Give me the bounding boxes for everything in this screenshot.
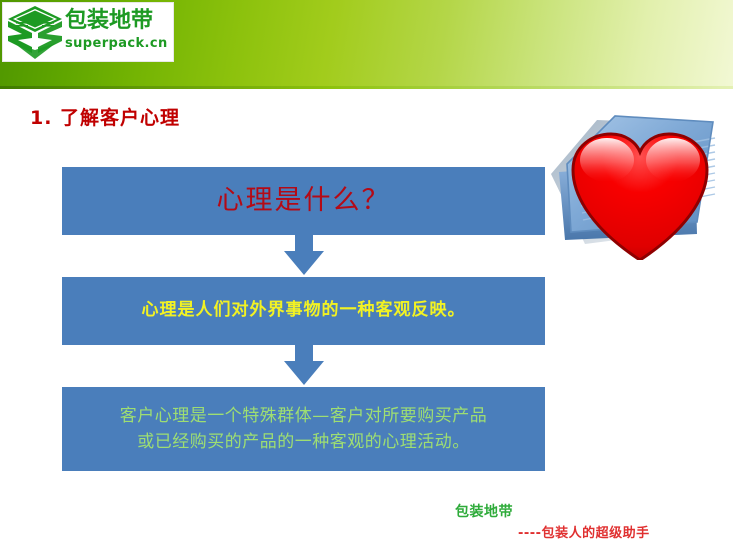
flow-box-definition-text: 心理是人们对外界事物的一种客观反映。 (142, 300, 466, 321)
logo-brand-url: superpack.cn (65, 36, 173, 52)
page-title: 1. 了解客户心理 (30, 103, 180, 130)
brand-logo: 包装地带 superpack.cn (2, 2, 174, 62)
heart-on-book-image (545, 112, 733, 260)
flow-box-customer-psychology-line1: 客户心理是一个特殊群体—客户对所要购买产品 (120, 406, 488, 426)
flow-box-question: 心理是什么？ (62, 167, 545, 235)
packaging-box-logo-icon (6, 5, 64, 61)
logo-text-block: 包装地带 superpack.cn (65, 6, 173, 60)
arrow-down-icon (283, 345, 325, 387)
flow-box-customer-psychology: 客户心理是一个特殊群体—客户对所要购买产品 或已经购买的产品的一种客观的心理活动… (62, 387, 545, 471)
slide-canvas: 包装地带 superpack.cn 1. 了解客户心理 (0, 0, 733, 550)
flow-box-definition: 心理是人们对外界事物的一种客观反映。 (62, 277, 545, 345)
flow-box-question-text: 心理是什么？ (217, 185, 391, 217)
flow-box-customer-psychology-line2: 或已经购买的产品的一种客观的心理活动。 (137, 432, 470, 452)
footer-brand: 包装地带 (455, 501, 513, 521)
flow-box-customer-psychology-text: 客户心理是一个特殊群体—客户对所要购买产品 或已经购买的产品的一种客观的心理活动… (120, 403, 488, 456)
footer-slogan: ----包装人的超级助手 (518, 522, 650, 541)
flowchart: 心理是什么？ 心理是人们对外界事物的一种客观反映。 客户心理是一个特殊群体—客户… (62, 167, 545, 471)
logo-brand-cn: 包装地带 (65, 6, 173, 36)
arrow-down-icon (283, 235, 325, 277)
